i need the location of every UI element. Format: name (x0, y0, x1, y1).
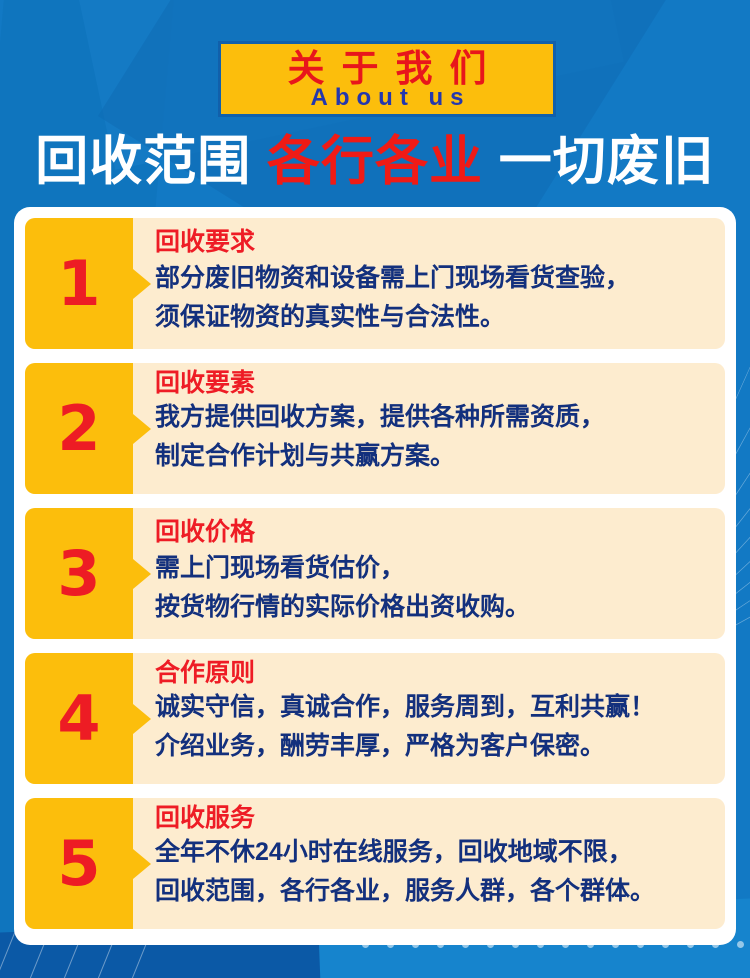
item-body: 回收服务全年不休24小时在线服务，回收地域不限，回收范围，各行各业，服务人群，各… (155, 798, 711, 929)
item-text-line: 我方提供回收方案，提供各种所需资质， (155, 398, 711, 437)
headline-part-3: 一切废旧 (499, 132, 715, 191)
item-number: 4 (57, 688, 100, 750)
list-item: 5回收服务全年不休24小时在线服务，回收地域不限，回收范围，各行各业，服务人群，… (25, 798, 725, 929)
item-number: 5 (57, 833, 100, 895)
item-number: 2 (57, 398, 100, 460)
list-item: 3回收价格需上门现场看货估价，按货物行情的实际价格出资收购。 (25, 508, 725, 639)
arrow-right-icon (133, 849, 151, 879)
about-us-poster: 关于我们 About us 回收范围 各行各业 一切废旧 1回收要求部分废旧物资… (0, 0, 750, 978)
item-number-block: 2 (25, 363, 133, 494)
item-text-line: 回收范围，各行各业，服务人群，各个群体。 (155, 872, 711, 911)
arrow-right-icon (133, 414, 151, 444)
headline-part-2: 各行各业 (267, 132, 483, 191)
item-title: 回收要素 (155, 363, 711, 398)
recycling-info-list: 1回收要求部分废旧物资和设备需上门现场看货查验，须保证物资的真实性与合法性。2回… (25, 218, 725, 929)
item-text-line: 须保证物资的真实性与合法性。 (155, 298, 711, 337)
page-headline: 回收范围 各行各业 一切废旧 (0, 128, 750, 196)
item-text-line: 需上门现场看货估价， (155, 549, 711, 588)
arrow-right-icon (133, 269, 151, 299)
item-body: 回收价格需上门现场看货估价，按货物行情的实际价格出资收购。 (155, 508, 711, 639)
item-number-block: 1 (25, 218, 133, 349)
item-title: 回收价格 (155, 508, 711, 549)
item-body: 回收要素我方提供回收方案，提供各种所需资质，制定合作计划与共赢方案。 (155, 363, 711, 494)
item-body: 合作原则诚实守信，真诚合作，服务周到，互利共赢！介绍业务，酬劳丰厚，严格为客户保… (155, 653, 711, 784)
item-title: 回收服务 (155, 798, 711, 833)
item-text-line: 按货物行情的实际价格出资收购。 (155, 588, 711, 627)
list-item: 1回收要求部分废旧物资和设备需上门现场看货查验，须保证物资的真实性与合法性。 (25, 218, 725, 349)
arrow-right-icon (133, 559, 151, 589)
item-text-line: 部分废旧物资和设备需上门现场看货查验， (155, 259, 711, 298)
headline-part-1: 回收范围 (35, 132, 251, 191)
about-banner: 关于我们 About us (218, 41, 556, 117)
item-number-block: 4 (25, 653, 133, 784)
item-text-line: 全年不休24小时在线服务，回收地域不限， (155, 833, 711, 872)
item-number-block: 3 (25, 508, 133, 639)
item-title: 合作原则 (155, 653, 711, 688)
item-text-line: 诚实守信，真诚合作，服务周到，互利共赢！ (155, 688, 711, 727)
item-number-block: 5 (25, 798, 133, 929)
content-card: 1回收要求部分废旧物资和设备需上门现场看货查验，须保证物资的真实性与合法性。2回… (14, 207, 736, 945)
item-number: 3 (57, 543, 100, 605)
item-text-line: 制定合作计划与共赢方案。 (155, 437, 711, 476)
list-item: 2回收要素我方提供回收方案，提供各种所需资质，制定合作计划与共赢方案。 (25, 363, 725, 494)
item-body: 回收要求部分废旧物资和设备需上门现场看货查验，须保证物资的真实性与合法性。 (155, 218, 711, 349)
list-item: 4合作原则诚实守信，真诚合作，服务周到，互利共赢！介绍业务，酬劳丰厚，严格为客户… (25, 653, 725, 784)
item-text-line: 介绍业务，酬劳丰厚，严格为客户保密。 (155, 727, 711, 766)
about-title-en: About us (221, 83, 553, 113)
item-title: 回收要求 (155, 218, 711, 259)
arrow-right-icon (133, 704, 151, 734)
item-number: 1 (57, 253, 100, 315)
